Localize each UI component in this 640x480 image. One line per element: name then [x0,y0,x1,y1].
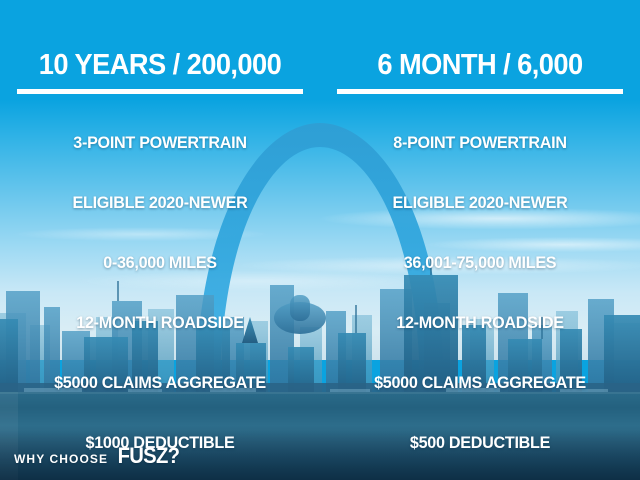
plan-feature-row: $5000 CLAIMS AGGREGATE [328,353,632,413]
comparison-content: 10 YEARS / 200,000 3-POINT POWERTRAIN EL… [0,0,640,480]
why-choose-fusz-logo: WHY CHOOSE FUSZ? [14,443,182,469]
plan-feature-row: 12-MONTH ROADSIDE [328,293,632,353]
header-underline-right [337,89,623,94]
plan-feature-row: 36,001-75,000 MILES [328,233,632,293]
plan-feature-row: 0-36,000 MILES [8,233,312,293]
slide-canvas: 10 YEARS / 200,000 3-POINT POWERTRAIN EL… [0,0,640,480]
header-underline-left [17,89,303,94]
plan-feature-row: ELIGIBLE 2020-NEWER [328,173,632,233]
plan-feature-row: $5000 CLAIMS AGGREGATE [8,353,312,413]
logo-why-choose-text: WHY CHOOSE [14,452,108,466]
plan-header-10-year: 10 YEARS / 200,000 [10,48,311,82]
logo-fusz-wordmark: FUSZ? [118,443,180,469]
plan-column-6-month: 6 MONTH / 6,000 8-POINT POWERTRAIN ELIGI… [320,48,640,473]
plan-feature-row: 12-MONTH ROADSIDE [8,293,312,353]
plan-feature-row: 3-POINT POWERTRAIN [8,113,312,173]
plan-feature-list-6-month: 8-POINT POWERTRAIN ELIGIBLE 2020-NEWER 3… [320,113,640,473]
plan-column-10-year: 10 YEARS / 200,000 3-POINT POWERTRAIN EL… [0,48,320,473]
plan-feature-row: $500 DEDUCTIBLE [328,413,632,473]
plan-feature-row: ELIGIBLE 2020-NEWER [8,173,312,233]
plan-feature-list-10-year: 3-POINT POWERTRAIN ELIGIBLE 2020-NEWER 0… [0,113,320,473]
plan-header-6-month: 6 MONTH / 6,000 [330,48,631,82]
plan-feature-row: 8-POINT POWERTRAIN [328,113,632,173]
